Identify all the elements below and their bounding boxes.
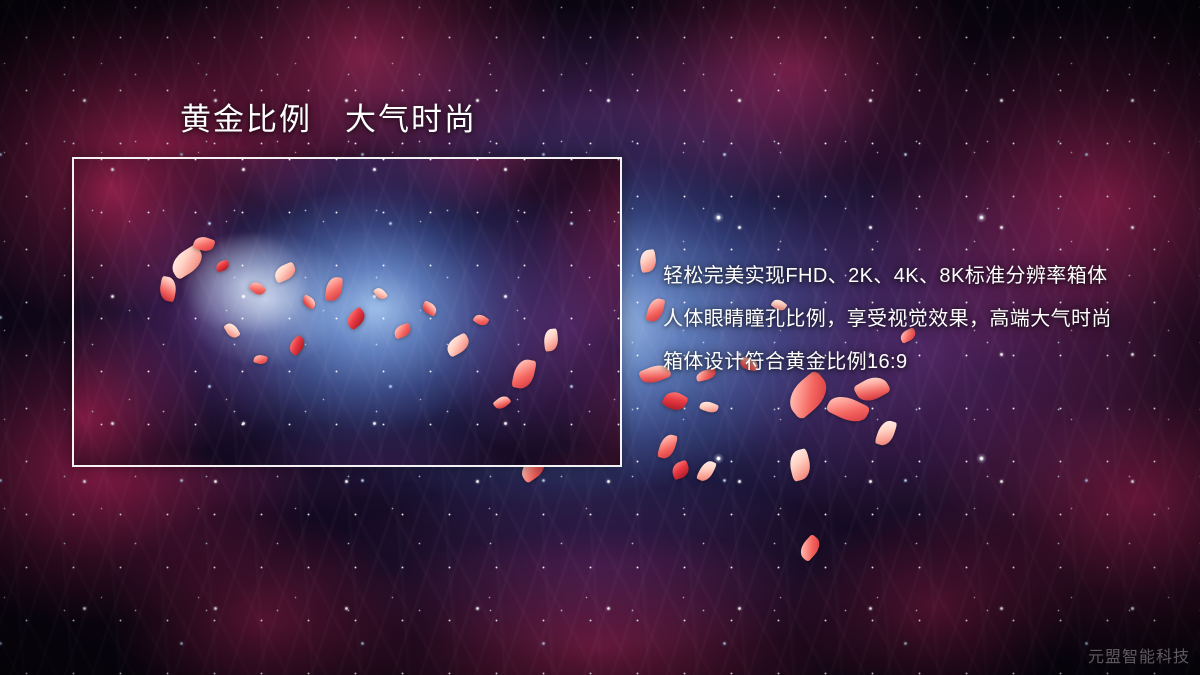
body-copy: 轻松完美实现FHD、2K、4K、8K标准分辨率箱体 人体眼睛瞳孔比例，享受视觉效… [663,255,1112,384]
page-title: 黄金比例 大气时尚 [180,101,477,138]
watermark: 元盟智能科技 [1088,643,1190,667]
body-copy-line: 轻松完美实现FHD、2K、4K、8K标准分辨率箱体 [663,255,1112,298]
image-frame-inner [74,159,620,465]
framed-vignette [74,159,620,465]
body-copy-line: 箱体设计符合黄金比例16:9 [663,341,1112,384]
body-copy-line: 人体眼睛瞳孔比例，享受视觉效果，高端大气时尚 [663,298,1112,341]
slide-canvas: 黄金比例 大气时尚 [0,0,1200,675]
image-frame [72,157,622,467]
